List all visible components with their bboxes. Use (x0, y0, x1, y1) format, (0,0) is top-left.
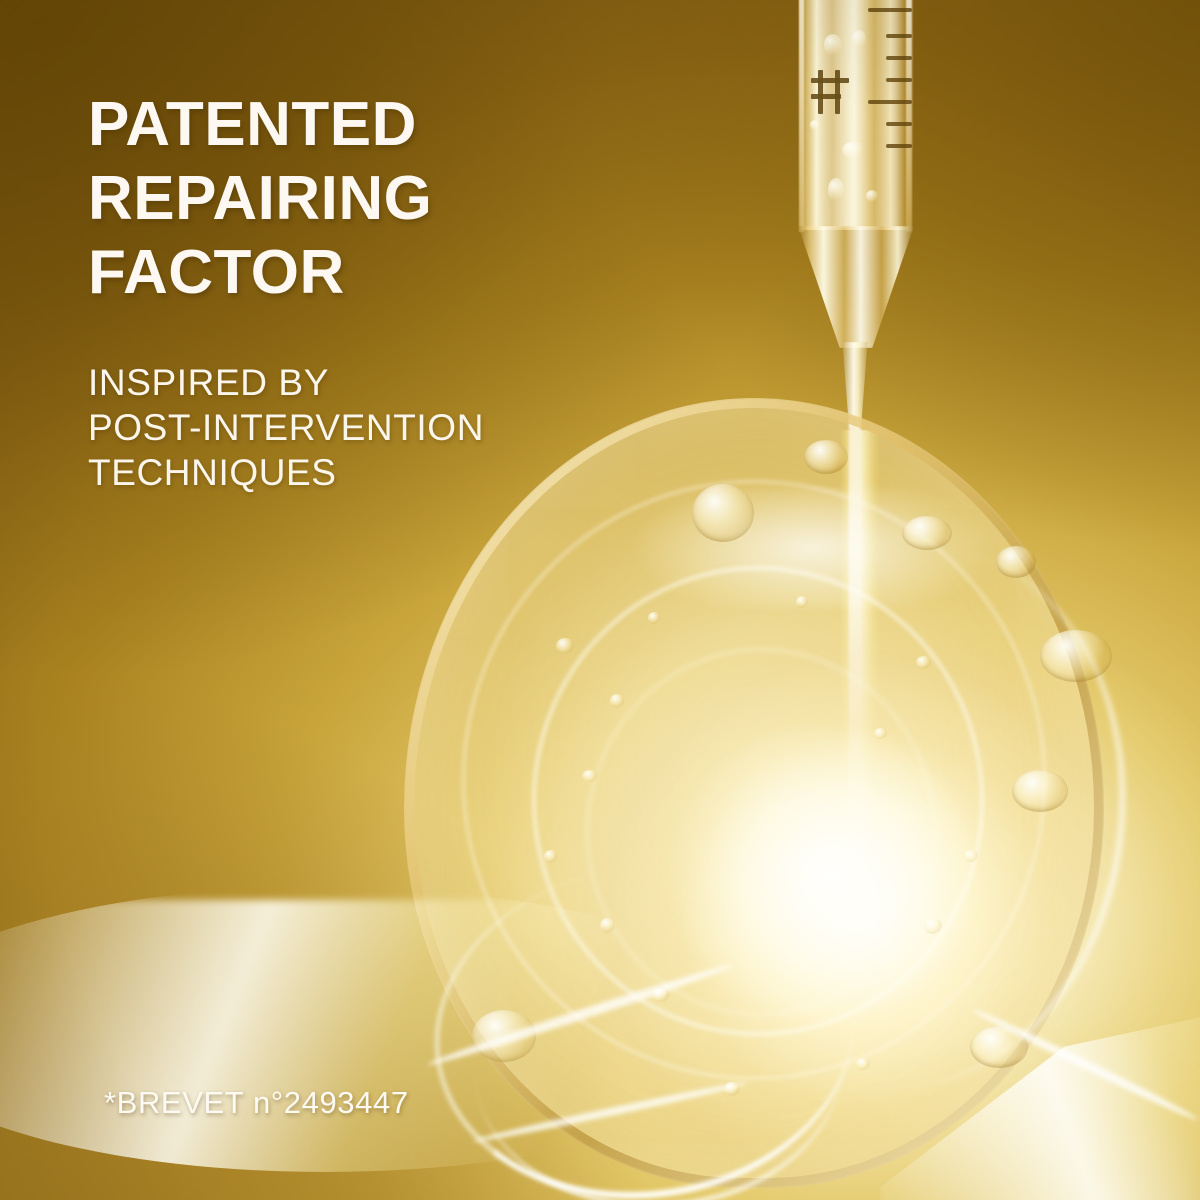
ad-creative-canvas: PATENTED REPAIRING FACTOR INSPIRED BY PO… (0, 0, 1200, 1200)
patent-footnote: *BREVET n°2493447 (104, 1085, 409, 1121)
subtitle: INSPIRED BY POST-INTERVENTION TECHNIQUES (88, 360, 484, 495)
page-title: PATENTED REPAIRING FACTOR (88, 88, 432, 310)
